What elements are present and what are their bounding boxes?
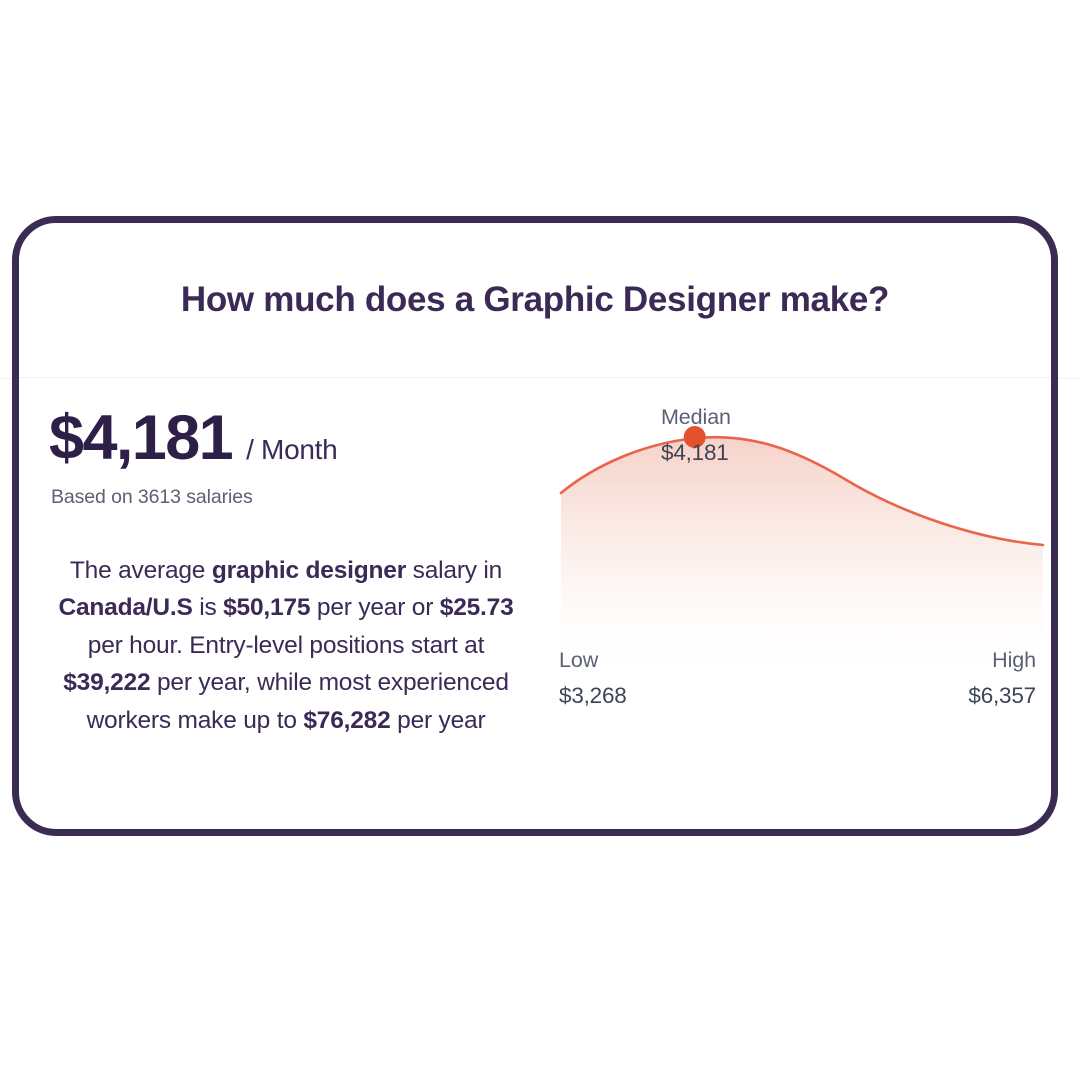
desc-annual-salary: $50,175: [223, 594, 310, 621]
distribution-area-fill: [561, 437, 1043, 679]
desc-text-1: The average: [70, 557, 212, 584]
desc-text-2: salary in: [406, 557, 502, 584]
desc-text-5: per hour. Entry-level positions start at: [88, 632, 484, 659]
salary-card: How much does a Graphic Designer make? $…: [12, 216, 1058, 836]
high-value-text: $6,357: [968, 682, 1036, 711]
low-label-text: Low: [559, 647, 627, 675]
distribution-curve-svg: [547, 379, 1051, 829]
desc-entry-salary: $39,222: [63, 669, 150, 696]
desc-text-3: is: [193, 594, 224, 621]
salary-distribution-chart: Median $4,181 Low $3,268 High $6,357: [547, 379, 1051, 829]
desc-text-4: per year or: [310, 594, 439, 621]
card-body: $4,181 / Month Based on 3613 salaries Th…: [19, 379, 1051, 829]
desc-job-title: graphic designer: [212, 557, 406, 584]
card-header: How much does a Graphic Designer make?: [19, 223, 1051, 378]
desc-region: Canada/U.S: [58, 594, 192, 621]
desc-top-salary: $76,282: [303, 707, 390, 734]
median-annotation: Median $4,181: [661, 404, 731, 467]
salary-period-label: / Month: [246, 434, 337, 466]
desc-hourly-rate: $25.73: [440, 594, 514, 621]
monthly-salary-amount: $4,181: [49, 407, 232, 470]
high-annotation: High $6,357: [968, 647, 1036, 710]
high-label-text: High: [968, 647, 1036, 675]
page-title: How much does a Graphic Designer make?: [181, 280, 889, 320]
low-annotation: Low $3,268: [559, 647, 627, 710]
median-value-text: $4,181: [661, 439, 731, 468]
median-label-text: Median: [661, 404, 731, 432]
salary-summary: $4,181 / Month Based on 3613 salaries Th…: [19, 379, 547, 764]
desc-text-7: per year: [391, 707, 486, 734]
salary-sample-size: Based on 3613 salaries: [43, 486, 529, 509]
low-value-text: $3,268: [559, 682, 627, 711]
salary-description: The average graphic designer salary in C…: [43, 552, 529, 739]
amount-row: $4,181 / Month: [43, 407, 529, 470]
